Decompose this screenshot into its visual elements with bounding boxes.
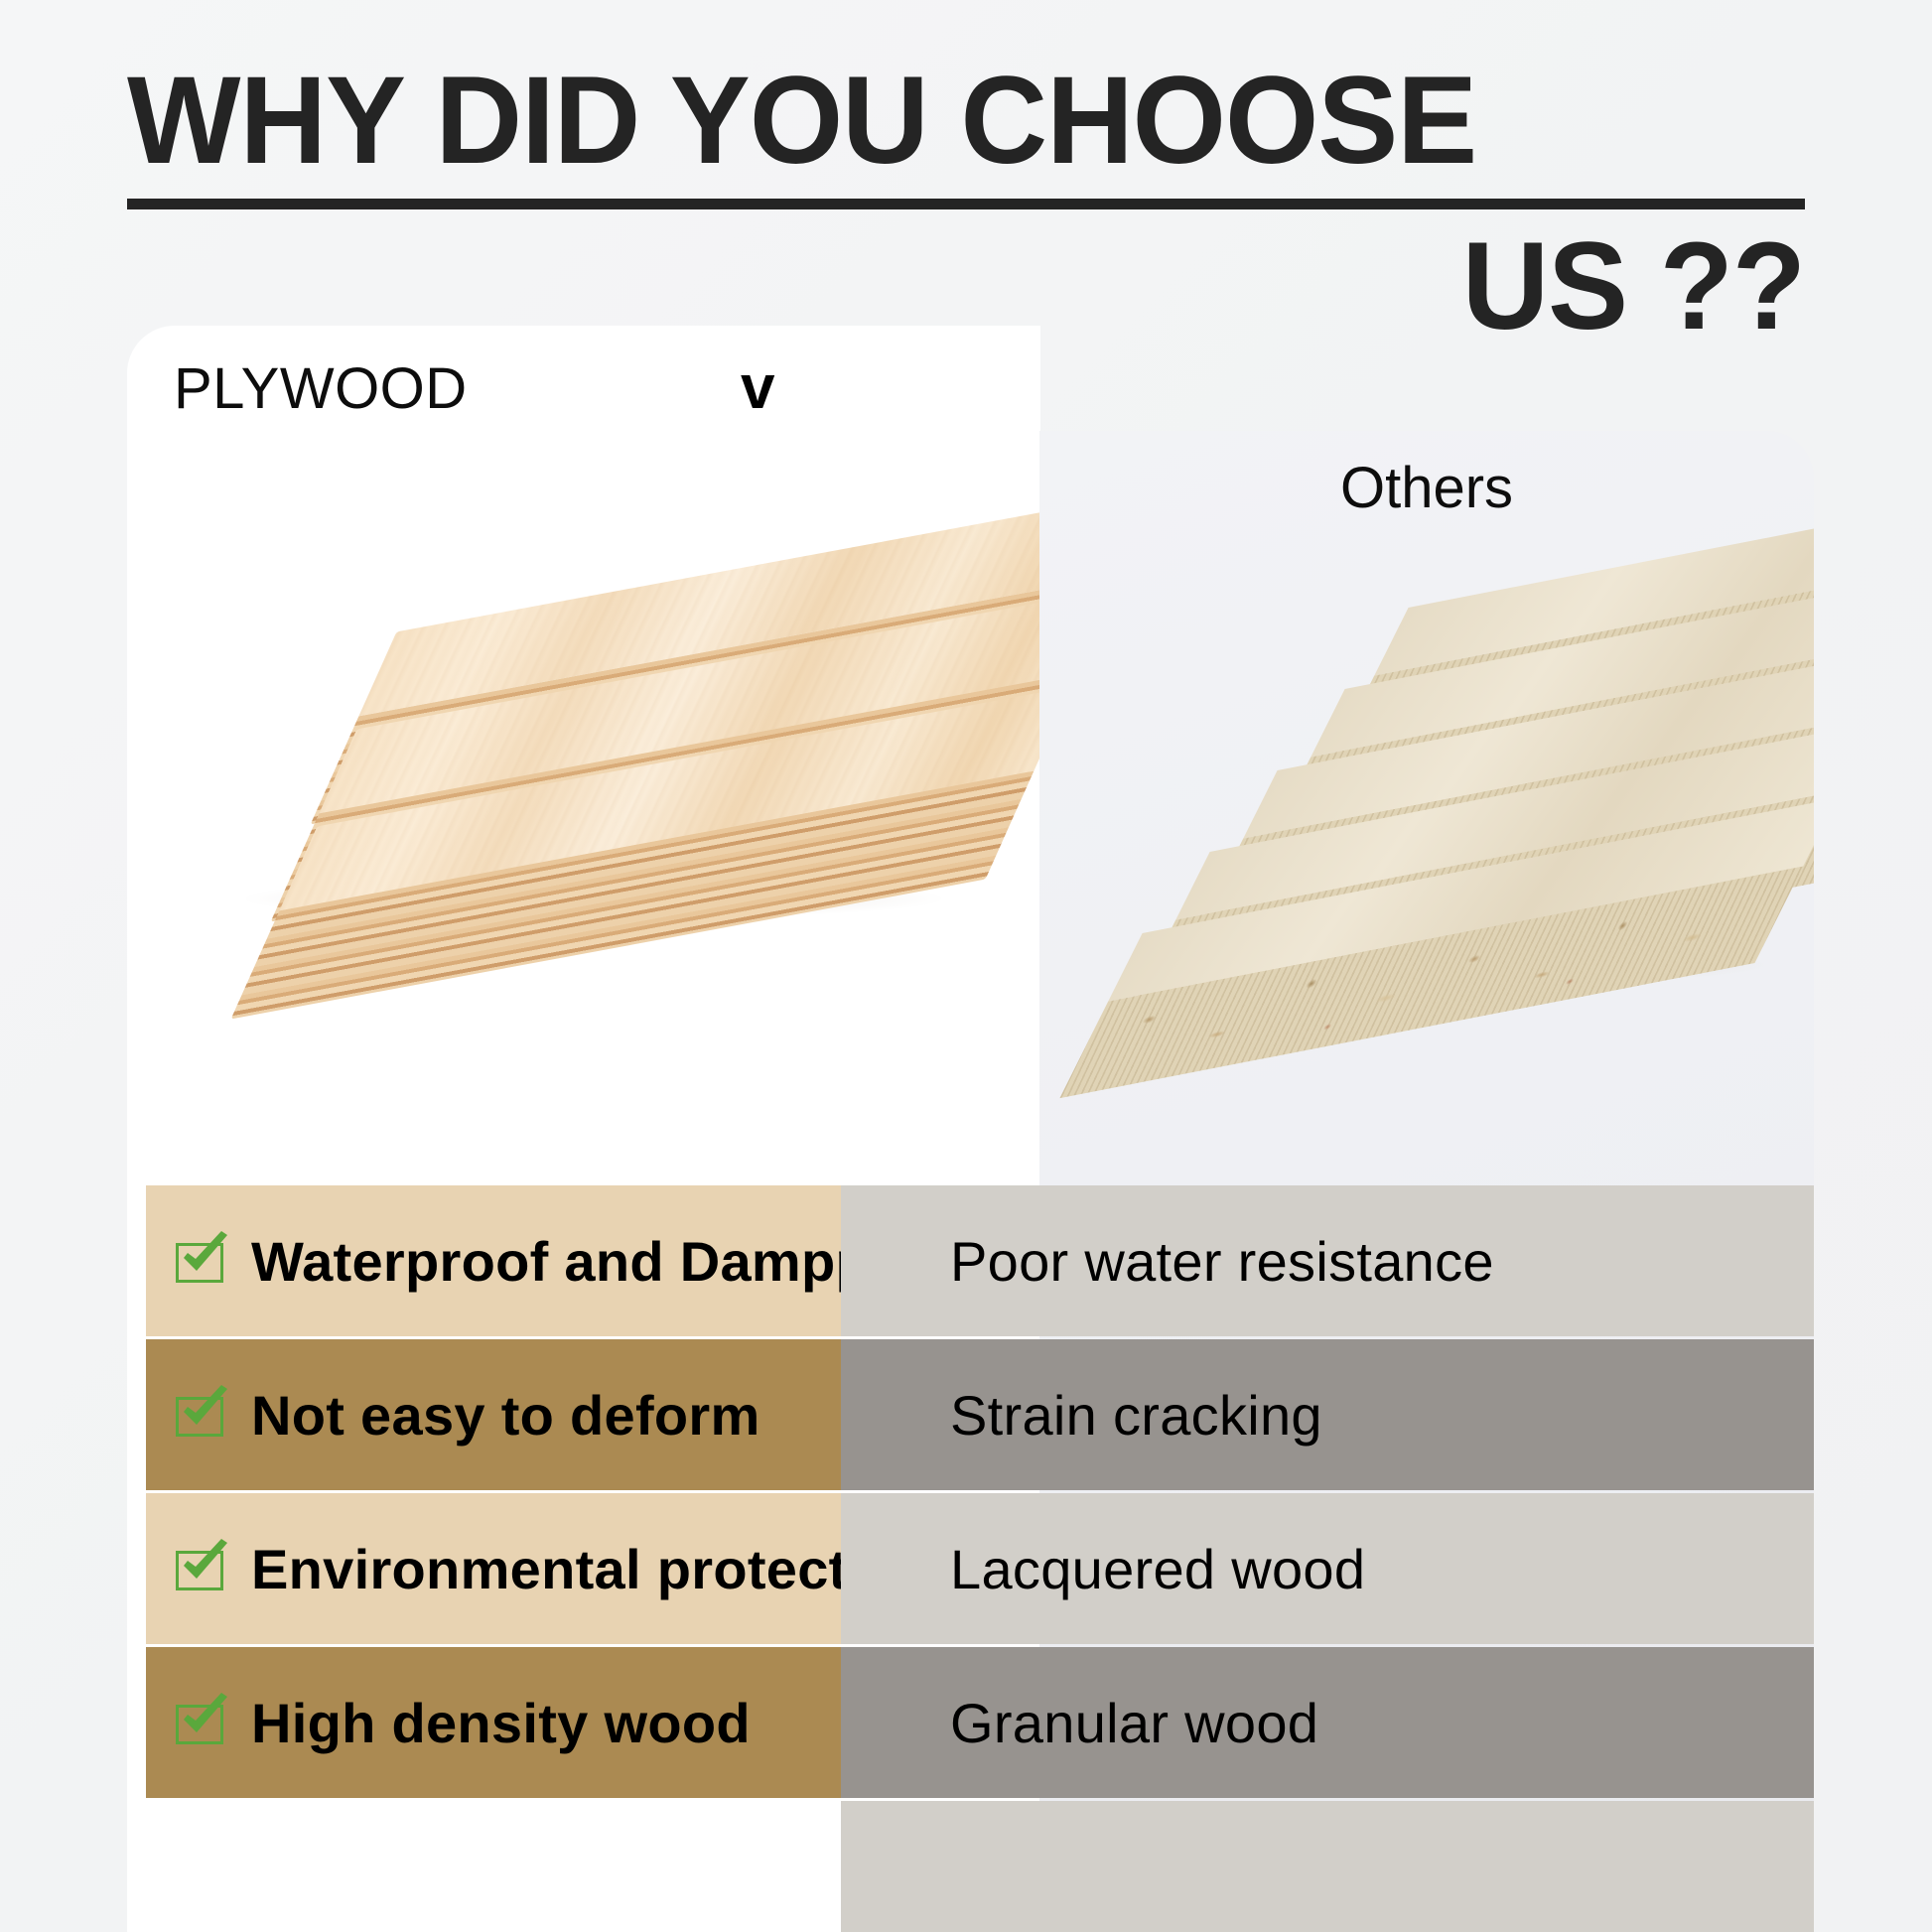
feature-row: High density wood — [146, 1647, 841, 1798]
drawback-row: Granular wood — [841, 1647, 1814, 1798]
check-tick-icon — [178, 1693, 233, 1744]
feature-label: Environmental protection — [251, 1537, 932, 1601]
drawback-label: Poor water resistance — [950, 1229, 1494, 1294]
drawback-row: Poor water resistance — [841, 1185, 1814, 1336]
drawback-label: Lacquered wood — [950, 1537, 1365, 1601]
check-tick-icon — [178, 1231, 233, 1283]
check-box-icon — [176, 1701, 229, 1744]
feature-label: High density wood — [251, 1691, 751, 1755]
others-panel-title: Others — [1039, 455, 1814, 521]
feature-row: Not easy to deform — [146, 1339, 841, 1490]
check-tick-icon — [178, 1385, 233, 1437]
check-box-icon — [176, 1239, 229, 1283]
check-tick-icon — [178, 1539, 233, 1590]
check-box-icon — [176, 1393, 229, 1437]
check-box-icon — [176, 1547, 229, 1590]
drawback-row: Lacquered wood — [841, 1493, 1814, 1644]
feature-row: Waterproof and Dampproof — [146, 1185, 841, 1336]
comparison-infographic: WHY DID YOU CHOOSE US ?? PLYWOOD v — [0, 0, 1932, 1932]
particleboard-stack-image — [1039, 481, 1814, 997]
drawback-label: Granular wood — [950, 1691, 1318, 1755]
feature-label: Not easy to deform — [251, 1383, 760, 1448]
plywood-check-v-icon: v — [741, 357, 774, 419]
drawback-label: Strain cracking — [950, 1383, 1322, 1448]
plywood-feature-list: Waterproof and Dampproof Not easy to def… — [146, 1185, 841, 1801]
plywood-panel-title: PLYWOOD — [174, 355, 468, 422]
others-feature-list: Poor water resistance Strain cracking La… — [841, 1185, 1814, 1932]
drawback-row: Strain cracking — [841, 1339, 1814, 1490]
comparison-panels: PLYWOOD v — [0, 0, 1932, 1932]
plywood-stack-image — [127, 411, 1040, 947]
drawback-row-partial — [841, 1801, 1814, 1932]
feature-row: Environmental protection — [146, 1493, 841, 1644]
